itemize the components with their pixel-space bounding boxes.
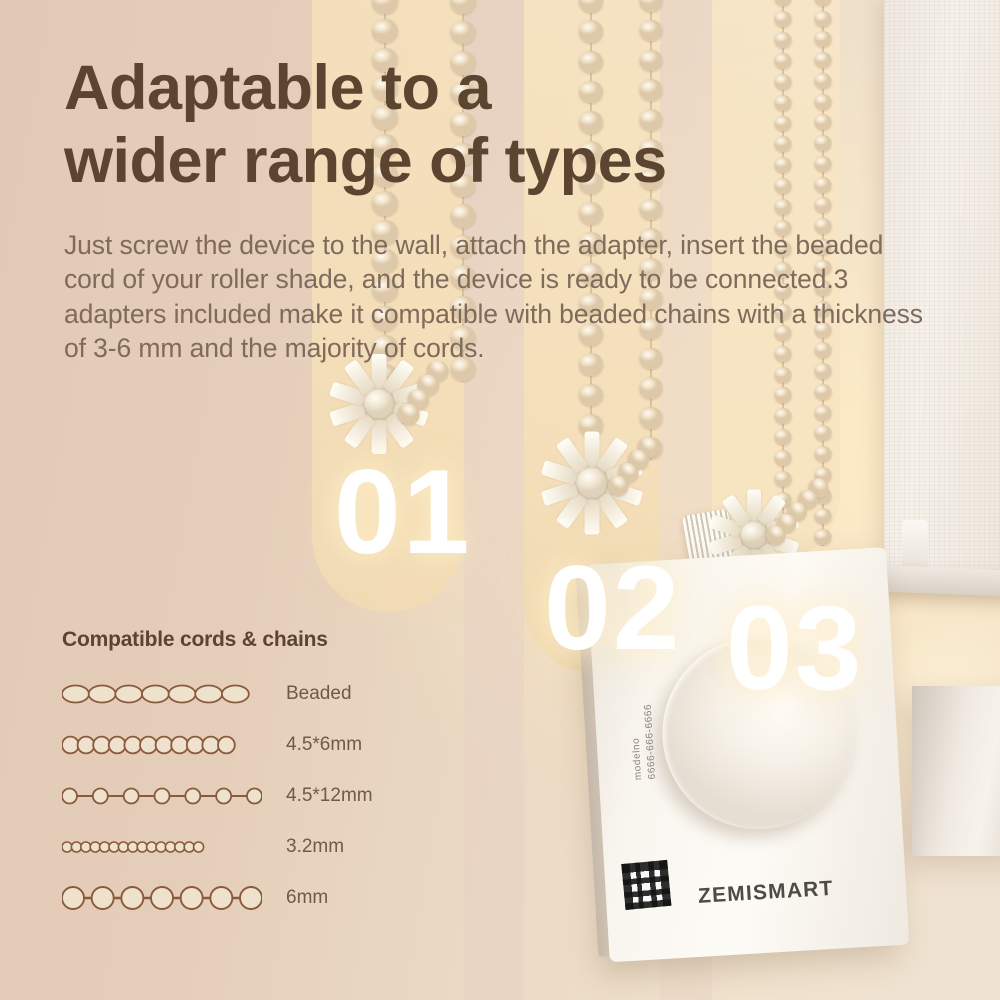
compatible-cords-legend: Compatible cords & chains Beaded4.5*6mm4…	[62, 628, 402, 929]
step-number-02: 02	[544, 548, 681, 668]
large-bead-chain-icon	[62, 885, 262, 911]
fine-bead-chain-icon	[62, 834, 262, 860]
brand-logo: ZEMISMART	[697, 877, 834, 909]
legend-row: 4.5*12mm	[62, 776, 402, 816]
headline-line-2: wider range of types	[64, 125, 824, 198]
legend-label: Beaded	[286, 683, 352, 705]
legend-label: 4.5*6mm	[286, 734, 362, 756]
spaced-bead-chain-icon	[62, 783, 262, 809]
round-bead-chain-icon	[62, 732, 262, 758]
page-title: Adaptable to a wider range of types	[64, 52, 824, 198]
device-serial-line-1: modelno	[631, 737, 645, 780]
legend-label: 6mm	[286, 887, 328, 909]
headline-line-1: Adaptable to a	[64, 52, 824, 125]
description-paragraph: Just screw the device to the wall, attac…	[64, 228, 924, 366]
qr-code-icon	[621, 860, 671, 910]
step-number-01: 01	[334, 452, 471, 572]
step-number-03: 03	[726, 588, 863, 708]
product-marketing-image: Adaptable to a wider range of types Just…	[0, 0, 1000, 1000]
wall-sconce	[912, 686, 1000, 856]
legend-row-list: Beaded4.5*6mm4.5*12mm3.2mm6mm	[62, 674, 402, 918]
beaded-oval-chain-icon	[62, 681, 262, 707]
legend-label: 3.2mm	[286, 836, 344, 858]
legend-row: 6mm	[62, 878, 402, 918]
legend-row: 3.2mm	[62, 827, 402, 867]
legend-title: Compatible cords & chains	[62, 628, 402, 652]
device-serial-line-2: 6666-666-6666	[643, 704, 658, 780]
legend-label: 4.5*12mm	[286, 785, 373, 807]
legend-row: Beaded	[62, 674, 402, 714]
legend-row: 4.5*6mm	[62, 725, 402, 765]
